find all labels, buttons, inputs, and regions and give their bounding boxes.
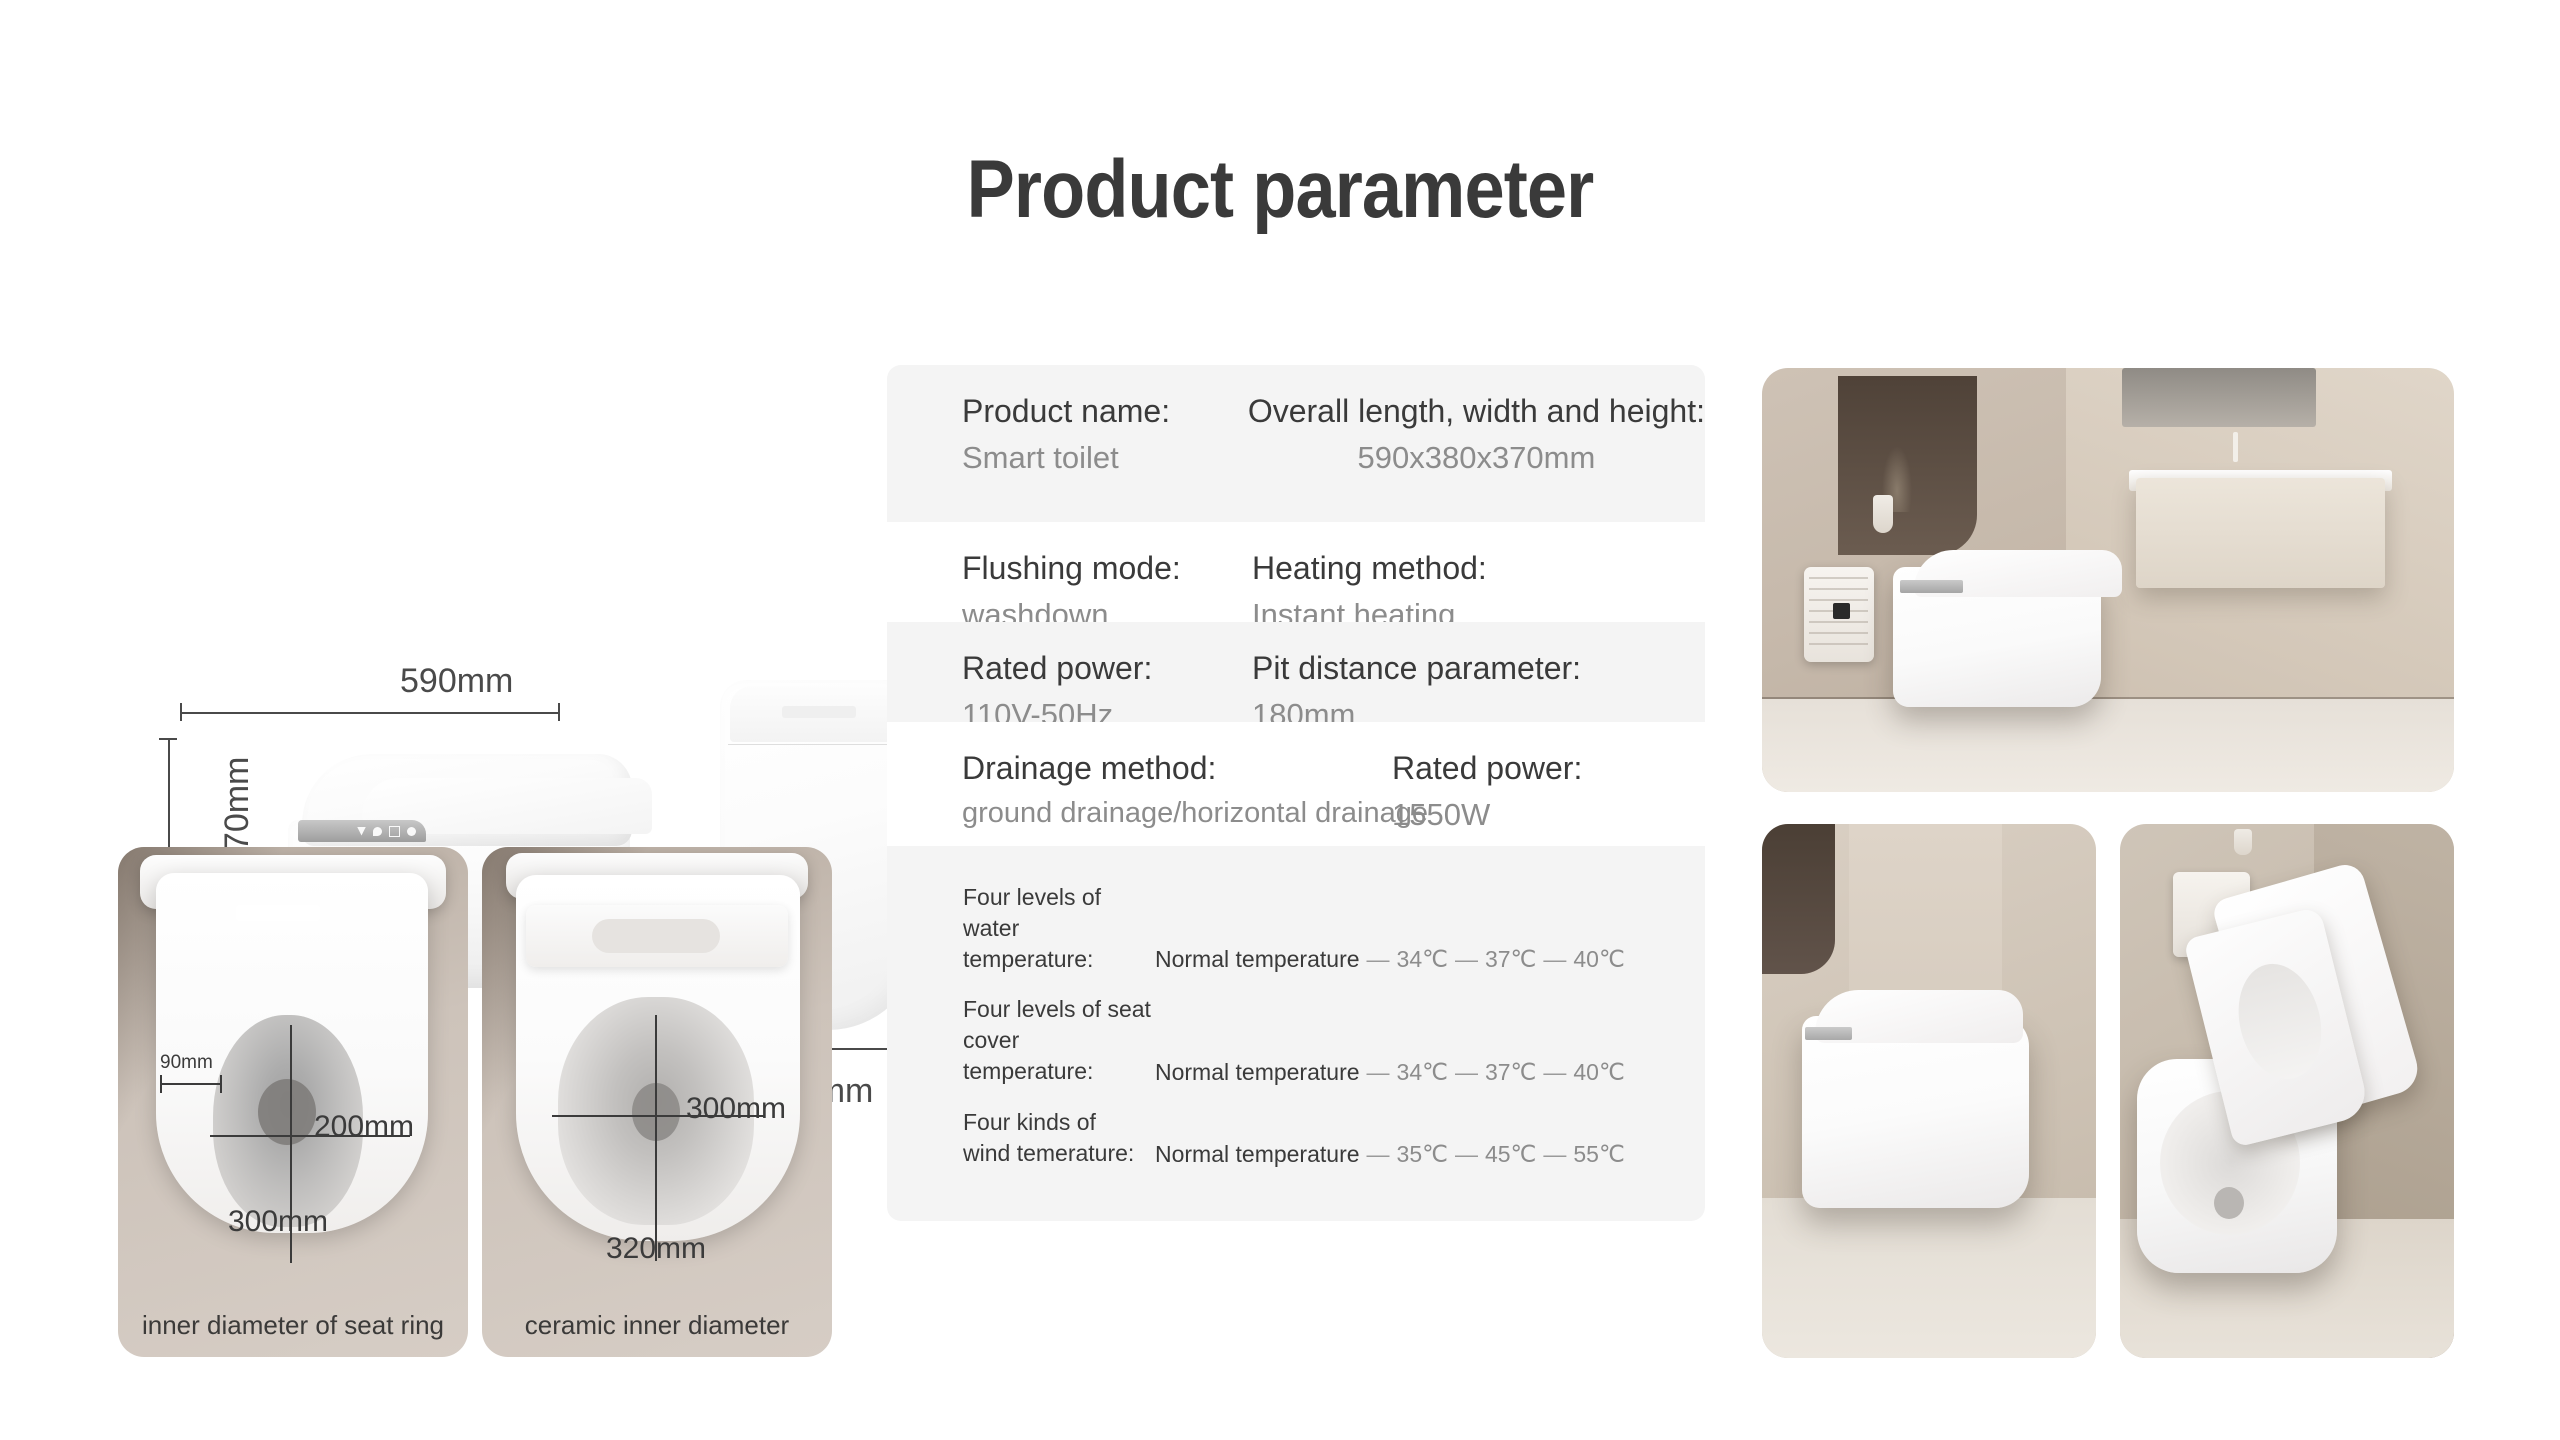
floor bbox=[1762, 699, 2454, 792]
floor-edge-line bbox=[1762, 697, 2454, 699]
vase bbox=[2234, 829, 2252, 855]
temperature-step: 45℃ bbox=[1485, 1141, 1536, 1167]
temperature-values: Normal temperature—35℃—45℃—55℃ bbox=[1155, 1141, 1625, 1169]
faucet bbox=[2233, 432, 2238, 462]
spec-cell-left: Product name: Smart toilet bbox=[887, 365, 1248, 507]
seat-side-tick-right bbox=[220, 1075, 222, 1093]
spec-cell-right: Overall length, width and height: 590x38… bbox=[1248, 365, 1705, 507]
vase bbox=[1873, 495, 1893, 533]
width-tick-left bbox=[180, 703, 182, 721]
temperature-step: 34℃ bbox=[1397, 946, 1448, 972]
temperature-base: Normal temperature bbox=[1155, 1059, 1360, 1085]
product-parameter-page: Product parameter 590mm 370mm bbox=[0, 0, 2560, 1440]
photo-card-ceramic: 300mm 320mm ceramic inner diameter bbox=[482, 847, 832, 1357]
temperature-step: 37℃ bbox=[1485, 1059, 1536, 1085]
seat-side-dim-line bbox=[160, 1083, 222, 1085]
temperature-label-line1: Four levels of bbox=[963, 882, 1155, 913]
ceramic-length-dimension: 320mm bbox=[606, 1232, 706, 1266]
temperature-base: Normal temperature bbox=[1155, 946, 1360, 972]
mirror bbox=[2122, 368, 2316, 427]
spec-cell-left: Drainage method: ground drainage/horizon… bbox=[887, 722, 1382, 861]
toilet-product-panel bbox=[1805, 1027, 1852, 1040]
spec-label: Pit distance parameter: bbox=[1252, 650, 1581, 688]
temperature-step: 35℃ bbox=[1397, 1141, 1448, 1167]
temperature-row-seat-cover: Four levels of seat cover temperature: N… bbox=[887, 984, 1705, 1096]
seat-side-tick-left bbox=[160, 1075, 162, 1093]
seat-length-dimension: 300mm bbox=[228, 1205, 328, 1239]
height-tick-top bbox=[159, 738, 177, 740]
temperature-step: 37℃ bbox=[1485, 946, 1536, 972]
toilet-drain bbox=[2214, 1187, 2244, 1219]
temperature-step: 40℃ bbox=[1573, 1059, 1624, 1085]
spec-label: Rated power: bbox=[962, 650, 1252, 688]
spec-row-drainage-method: Drainage method: ground drainage/horizon… bbox=[887, 722, 1705, 846]
temperature-label-line2: wind temerature: bbox=[963, 1138, 1155, 1169]
dimension-diagram: 590mm 370mm bbox=[100, 330, 860, 850]
temperature-row-water: Four levels of water temperature: Normal… bbox=[887, 872, 1705, 984]
seat-ring-caption: inner diameter of seat ring bbox=[118, 1310, 468, 1341]
wall-control-panel bbox=[1804, 567, 1874, 662]
temperature-step: 34℃ bbox=[1397, 1059, 1448, 1085]
temperature-label-line2: water temperature: bbox=[963, 913, 1155, 975]
toilet-product-panel bbox=[1900, 580, 1962, 593]
dash-icon: — bbox=[1360, 946, 1397, 972]
dash-icon: — bbox=[1536, 1059, 1573, 1085]
temperature-step: 40℃ bbox=[1573, 946, 1624, 972]
power-icon bbox=[407, 827, 416, 836]
spec-label: Heating method: bbox=[1252, 550, 1487, 588]
temperature-label: Four levels of water temperature: bbox=[963, 882, 1155, 974]
temperature-label: Four levels of seat cover temperature: bbox=[963, 994, 1155, 1086]
photo-bathroom-scene bbox=[1762, 368, 2454, 792]
dash-icon: — bbox=[1448, 1141, 1485, 1167]
dash-icon: — bbox=[1448, 946, 1485, 972]
spec-value: ground drainage/horizontal drainage bbox=[962, 794, 1382, 833]
dash-icon: — bbox=[1536, 1141, 1573, 1167]
seat-width-dimension: 200mm bbox=[314, 1110, 414, 1144]
dash-icon: — bbox=[1360, 1059, 1397, 1085]
scene-composition bbox=[1762, 824, 2096, 1358]
seat-side-dimension: 90mm bbox=[160, 1052, 213, 1074]
temperature-label-line1: Four levels of seat bbox=[963, 994, 1155, 1025]
floor bbox=[1762, 1198, 2096, 1358]
temperature-label-line1: Four kinds of bbox=[963, 1107, 1155, 1138]
spec-table: Product name: Smart toilet Overall lengt… bbox=[887, 365, 1705, 1221]
photo-card-seat-ring: 90mm 200mm 300mm inner diameter of seat … bbox=[118, 847, 468, 1357]
control-panel-screen bbox=[1833, 603, 1850, 619]
width-dimension-line bbox=[180, 712, 560, 714]
scene-composition bbox=[1762, 368, 2454, 792]
seat-display-icon bbox=[236, 905, 320, 921]
spec-row-flushing-mode: Flushing mode: washdown Heating method: … bbox=[887, 522, 1705, 622]
page-title: Product parameter bbox=[154, 143, 2407, 237]
temperature-values: Normal temperature—34℃—37℃—40℃ bbox=[1155, 1059, 1625, 1087]
temperature-base: Normal temperature bbox=[1155, 1141, 1360, 1167]
water-drop-icon bbox=[373, 827, 382, 836]
spec-label: Product name: bbox=[962, 393, 1248, 431]
temperature-step: 55℃ bbox=[1573, 1141, 1624, 1167]
dash-icon: — bbox=[1448, 1059, 1485, 1085]
seat-icon bbox=[389, 826, 400, 837]
spec-label: Rated power: bbox=[1392, 750, 1582, 788]
spec-row-rated-power: Rated power: 110V-50Hz Pit distance para… bbox=[887, 622, 1705, 722]
ceramic-width-dimension: 300mm bbox=[686, 1092, 786, 1126]
ceramic-caption: ceramic inner diameter bbox=[482, 1310, 832, 1341]
temperature-values: Normal temperature—34℃—37℃—40℃ bbox=[1155, 946, 1625, 974]
ceramic-crosshair-vertical bbox=[655, 1015, 657, 1261]
dash-icon: — bbox=[1536, 946, 1573, 972]
spec-value: 590x380x370mm bbox=[1248, 437, 1705, 479]
ceramic-seat-notch bbox=[592, 919, 720, 953]
temperature-label-line2: cover temperature: bbox=[963, 1025, 1155, 1087]
vanity-cabinet bbox=[2136, 478, 2385, 588]
spec-value: 1550W bbox=[1392, 794, 1582, 836]
control-panel-strip bbox=[298, 820, 426, 842]
spec-value: Smart toilet bbox=[962, 437, 1248, 479]
temperature-label: Four kinds of wind temerature: bbox=[963, 1107, 1155, 1169]
seat-ring-illustration bbox=[118, 847, 468, 1357]
spec-label: Flushing mode: bbox=[962, 550, 1252, 588]
spec-row-product-name: Product name: Smart toilet Overall lengt… bbox=[887, 365, 1705, 522]
spec-label: Drainage method: bbox=[962, 750, 1382, 788]
spray-icon bbox=[357, 827, 366, 836]
temperature-row-wind: Four kinds of wind temerature: Normal te… bbox=[887, 1097, 1705, 1179]
dash-icon: — bbox=[1360, 1141, 1397, 1167]
temperature-levels-section: Four levels of water temperature: Normal… bbox=[887, 846, 1705, 1221]
photo-toilet-angled bbox=[1762, 824, 2096, 1358]
toilet-display-icon bbox=[782, 706, 856, 718]
spec-label: Overall length, width and height: bbox=[1248, 393, 1705, 431]
spec-cell-right: Rated power: 1550W bbox=[1382, 722, 1582, 864]
scene-composition bbox=[2120, 824, 2454, 1358]
wall-niche bbox=[1762, 824, 1835, 974]
width-dimension-label: 590mm bbox=[400, 662, 513, 701]
toilet-product bbox=[1802, 1016, 2029, 1208]
photo-toilet-open-lid bbox=[2120, 824, 2454, 1358]
width-tick-right bbox=[558, 703, 560, 721]
